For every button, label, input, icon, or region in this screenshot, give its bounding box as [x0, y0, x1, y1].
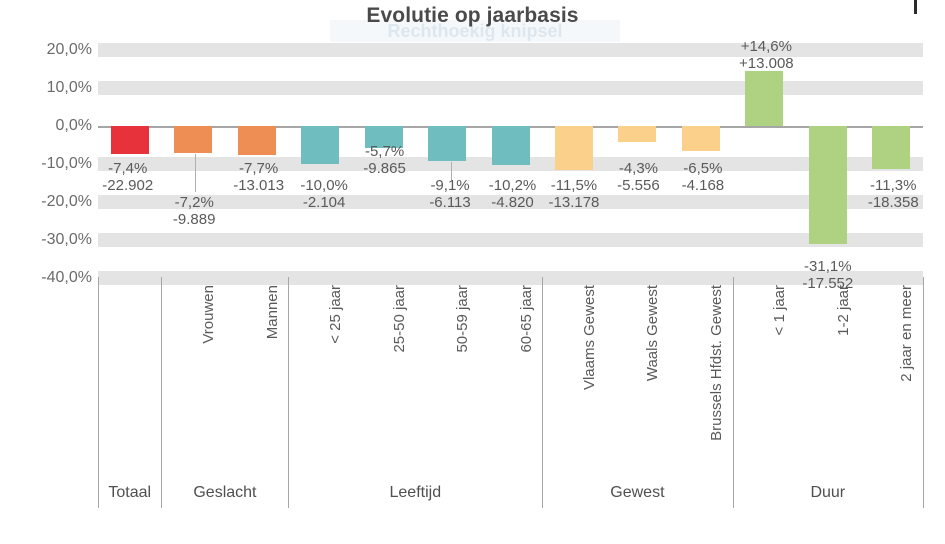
y-tick-label: 10,0% — [0, 80, 92, 96]
chart-root: Rechthoekig knipsel Evolutie op jaarbasi… — [0, 0, 945, 544]
group-separator — [733, 277, 734, 508]
x-tick-label: 1-2 jaar — [835, 285, 852, 336]
bar-2-jaar-en-meer[interactable] — [872, 126, 910, 169]
x-tick-label: Vlaams Gewest — [581, 285, 598, 390]
x-tick-label: Vrouwen — [200, 285, 217, 344]
y-tick-label: -20,0% — [0, 194, 92, 210]
x-tick-label: 60-65 jaar — [518, 285, 535, 353]
data-label-absolute: -18.358 — [838, 194, 945, 211]
y-tick-label: -30,0% — [0, 232, 92, 248]
data-label: +14,6%+13.008 — [711, 38, 821, 72]
label-leader-line — [195, 154, 196, 192]
data-label-percent: -31,1% — [773, 258, 883, 275]
y-tick-label: 20,0% — [0, 42, 92, 58]
grid-band — [98, 81, 923, 95]
data-label-percent: -6,5% — [648, 160, 758, 177]
data-label: -6,5%-4.168 — [648, 160, 758, 194]
group-separator — [161, 277, 162, 508]
data-label-absolute: -22.902 — [73, 177, 183, 194]
data-label-percent: -7,2% — [139, 194, 249, 211]
group-label: Geslacht — [161, 484, 288, 502]
bar-vrouwen[interactable] — [174, 126, 212, 153]
bar-mannen[interactable] — [238, 126, 276, 155]
chart-title: Evolutie op jaarbasis — [0, 4, 945, 28]
grid-band — [98, 233, 923, 247]
group-separator — [923, 277, 924, 508]
corner-artifact-mark — [914, 0, 917, 14]
data-label: -7,2%-9.889 — [139, 194, 249, 228]
bar-totaal[interactable] — [111, 126, 149, 154]
group-label: Leeftijd — [288, 484, 542, 502]
data-label-absolute: -2.104 — [269, 194, 379, 211]
group-label: Gewest — [542, 484, 732, 502]
x-tick-label: < 25 jaar — [327, 285, 344, 344]
bar-60-65-jaar[interactable] — [492, 126, 530, 165]
data-label-absolute: +13.008 — [711, 55, 821, 72]
data-label-absolute: -9.865 — [330, 160, 440, 177]
bar-waals-gewest[interactable] — [618, 126, 656, 142]
bar-1-jaar[interactable] — [745, 71, 783, 126]
data-label: -7,4%-22.902 — [73, 160, 183, 194]
data-label-absolute: -9.889 — [139, 211, 249, 228]
group-label: Totaal — [98, 484, 161, 502]
data-label-absolute: -4.168 — [648, 177, 758, 194]
data-label: -10,0%-2.104 — [269, 177, 379, 211]
data-label: -11,3%-18.358 — [838, 177, 945, 211]
x-tick-label: Waals Gewest — [644, 285, 661, 381]
group-separator — [288, 277, 289, 508]
group-separator — [98, 277, 99, 508]
y-tick-label: -40,0% — [0, 270, 92, 286]
bar-brussels-hfdst-gewest[interactable] — [682, 126, 720, 151]
plot-area: -7,4%-22.902-7,2%-9.889-7,7%-13.013-10,0… — [98, 38, 923, 277]
x-tick-label: Brussels Hfdst. Gewest — [708, 285, 725, 441]
group-label: Duur — [733, 484, 923, 502]
x-tick-label: Mannen — [264, 285, 281, 339]
data-label-percent: -7,7% — [204, 160, 314, 177]
x-tick-label: < 1 jaar — [771, 285, 788, 335]
x-tick-label: 2 jaar en meer — [898, 285, 915, 382]
data-label-percent: -11,3% — [838, 177, 945, 194]
label-leader-line — [451, 162, 452, 180]
data-label-percent: +14,6% — [711, 38, 821, 55]
x-tick-label: 50-59 jaar — [454, 285, 471, 353]
data-label-percent: -10,0% — [269, 177, 379, 194]
y-tick-label: 0,0% — [0, 118, 92, 134]
group-separator — [542, 277, 543, 508]
data-label: -5,7%-9.865 — [330, 143, 440, 177]
category-axis: VrouwenMannen< 25 jaar25-50 jaar50-59 ja… — [98, 277, 923, 508]
data-label-absolute: -13.178 — [519, 194, 629, 211]
data-label-percent: -5,7% — [330, 143, 440, 160]
x-tick-label: 25-50 jaar — [391, 285, 408, 353]
data-label-percent: -7,4% — [73, 160, 183, 177]
